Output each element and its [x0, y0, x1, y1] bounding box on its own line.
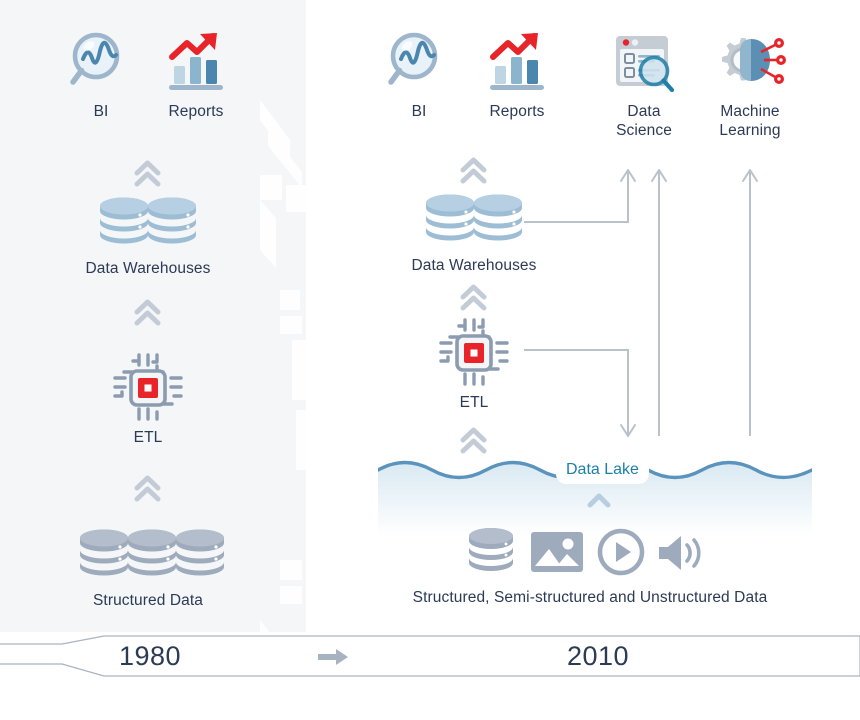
chevron-up-icon: [458, 282, 489, 318]
node-reports-2010: Reports: [481, 30, 553, 121]
node-label: Data Warehouses: [42, 259, 254, 278]
node-label: BI: [384, 102, 454, 121]
node-etl-1980: ETL: [104, 352, 192, 447]
chevron-up-icon: [132, 473, 163, 509]
bar-chart-trend-icon: [160, 30, 232, 92]
node-bi-1980: BI: [66, 30, 136, 121]
source-icon-row: [340, 526, 840, 576]
node-label: Structured, Semi-structured and Unstruct…: [340, 588, 840, 607]
node-label: Reports: [160, 102, 232, 121]
video-play-icon: [600, 531, 642, 573]
timeline-year-2010: 2010: [556, 641, 640, 672]
gear-brain-icon: [700, 26, 800, 96]
node-label: ETL: [104, 428, 192, 447]
image-icon: [531, 532, 583, 572]
node-label: Data Warehouses: [368, 256, 580, 275]
bar-chart-trend-icon: [481, 30, 553, 92]
node-label: BI: [66, 102, 136, 121]
node-data-warehouses-2010: Data Warehouses: [368, 193, 580, 275]
diagram-canvas: BI Reports: [0, 0, 860, 720]
magnifier-waveform-icon: [384, 30, 454, 92]
node-data-science-2010: Data Science: [596, 26, 692, 140]
chip-processor-icon: [104, 352, 192, 422]
node-label: ETL: [430, 393, 518, 412]
chevron-up-icon: [458, 425, 489, 461]
node-reports-1980: Reports: [160, 30, 232, 121]
chevron-up-icon: [132, 158, 163, 194]
database-pair-icon: [368, 193, 580, 245]
timeline-year-1980: 1980: [110, 641, 190, 672]
data-lake-label: Data Lake: [556, 458, 649, 484]
node-machine-learning-2010: Machine Learning: [700, 26, 800, 140]
audio-speaker-icon: [659, 536, 699, 570]
node-bi-2010: BI: [384, 30, 454, 121]
chip-processor-icon: [430, 317, 518, 387]
node-label: Structured Data: [42, 591, 254, 610]
node-data-warehouses-1980: Data Warehouses: [42, 196, 254, 278]
database-icon: [469, 528, 513, 571]
magnifier-waveform-icon: [66, 30, 136, 92]
node-label: Reports: [481, 102, 553, 121]
browser-magnifier-icon: [596, 26, 692, 96]
chevron-up-icon: [586, 492, 612, 515]
right-arrow-icon: [316, 645, 352, 669]
node-etl-2010: ETL: [430, 317, 518, 412]
node-source-data-2010: Structured, Semi-structured and Unstruct…: [340, 526, 840, 607]
node-structured-data-1980: Structured Data: [42, 528, 254, 610]
chevron-up-icon: [132, 297, 163, 333]
node-label: Data Science: [596, 102, 692, 140]
node-label: Machine Learning: [700, 102, 800, 140]
database-triple-icon: [42, 528, 254, 580]
database-pair-icon: [42, 196, 254, 248]
chevron-up-icon: [458, 155, 489, 191]
